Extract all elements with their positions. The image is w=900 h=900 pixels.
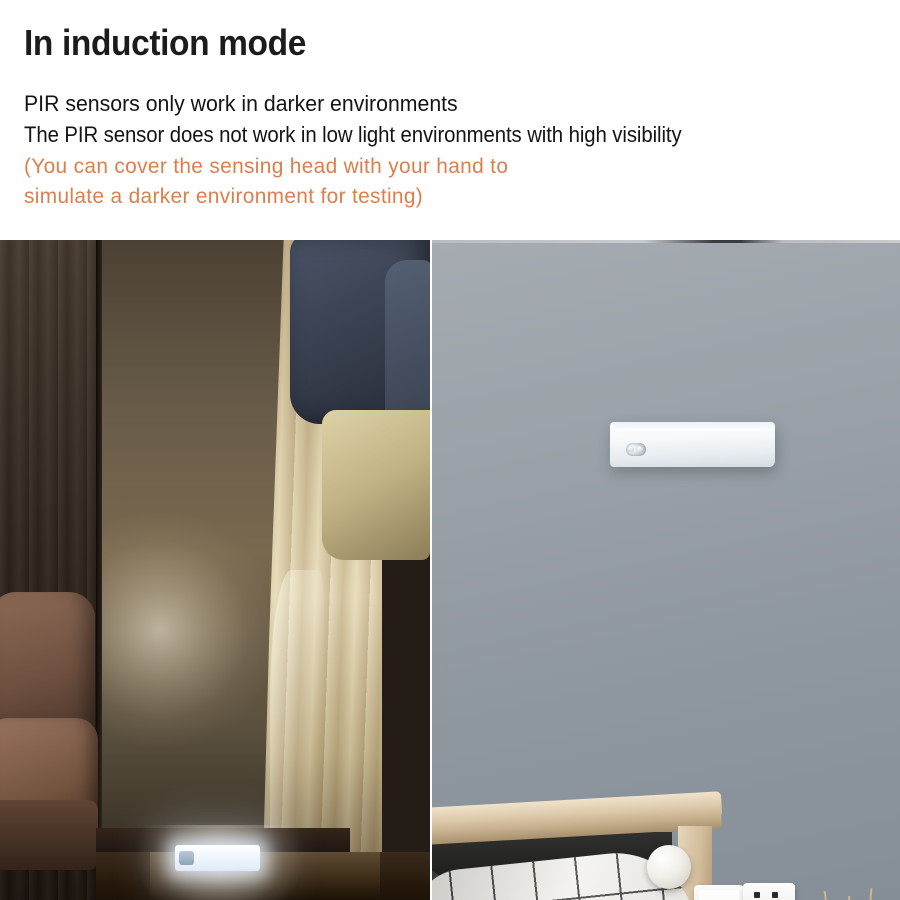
ceiling-trim-line [432,240,900,243]
subtitle-line-1: PIR sensors only work in darker environm… [24,89,852,120]
photo-right-bright-room [432,240,900,900]
comparison-photo-strip: PIR sensors only sense in darker environ… [0,240,900,900]
sofa-base [0,800,98,870]
wall-power-socket [743,883,795,900]
led-light-bar-top-face [614,422,775,431]
flower-stem [824,891,842,900]
note-line-1: (You can cover the sensing head with you… [24,151,874,182]
product-infographic-page: In induction mode PIR sensors only work … [0,0,900,900]
header-text-block: In induction mode PIR sensors only work … [0,0,900,240]
socket-pin-top-left [754,892,760,898]
subtitle-line-2: The PIR sensor does not work in low ligh… [24,120,817,151]
page-title: In induction mode [24,22,839,63]
person-cream-pants [322,410,430,560]
switch-rocker[interactable] [699,890,739,900]
pillow-pompom [647,845,691,889]
pir-sensor-dome-right [637,446,643,452]
socket-pin-top-right [772,892,778,898]
note-line-2: simulate a darker environment for testin… [24,181,874,212]
photo-left-dark-room [0,240,430,900]
pir-sensor-dome-left [628,446,634,452]
dried-flowers [810,888,900,900]
pir-sensor-icon [179,851,194,865]
photo-divider [430,240,432,900]
flower-stem [862,888,872,900]
flower-stem [848,896,854,900]
subtitle-block: PIR sensors only work in darker environm… [24,89,900,211]
